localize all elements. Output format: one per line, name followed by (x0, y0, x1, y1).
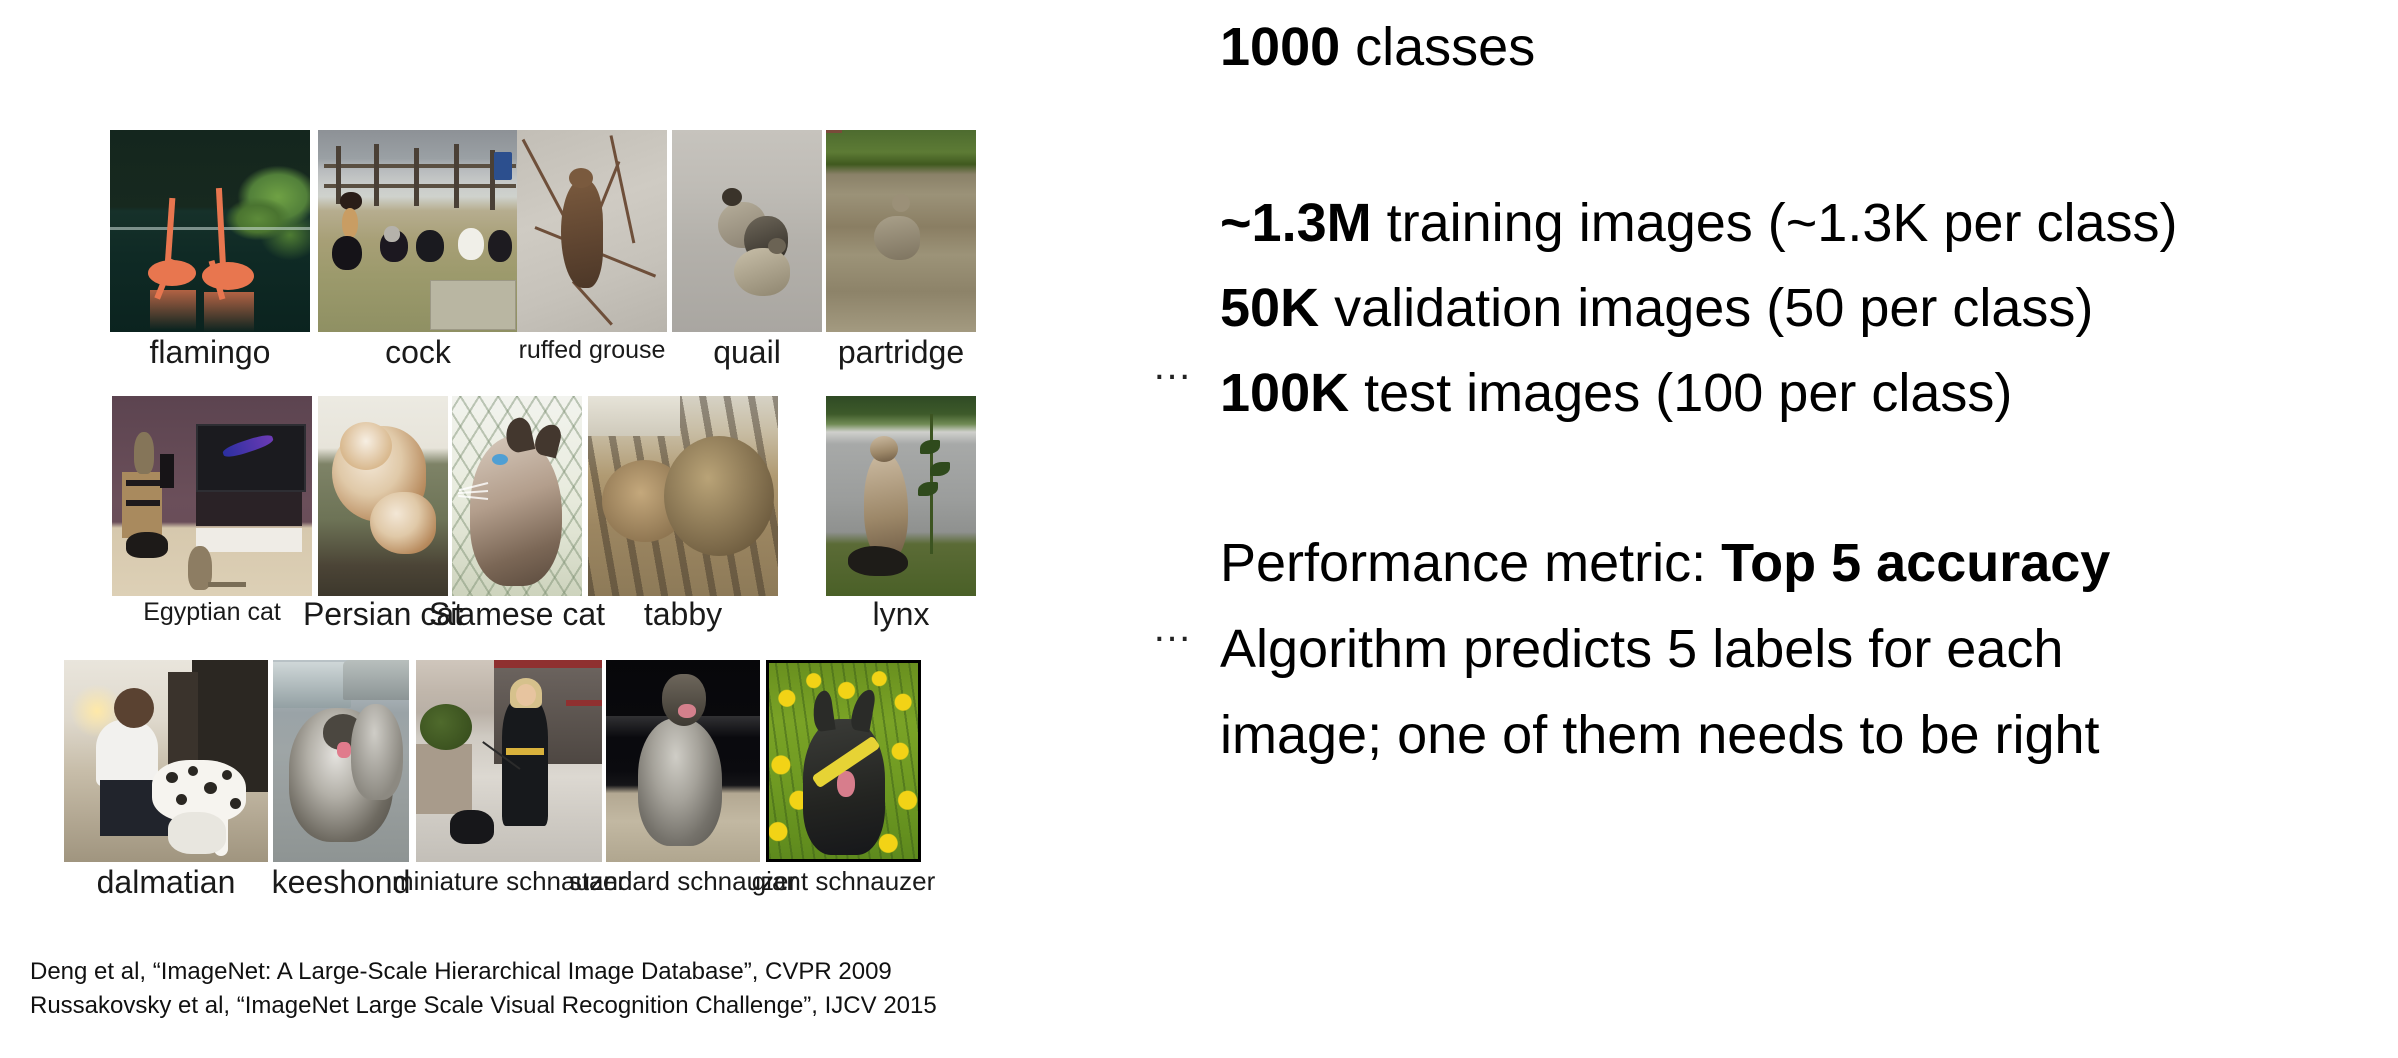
grid-row-cats: Egyptian cat Persian cat Siamese cat (0, 396, 1210, 646)
thumbnail-quail (672, 130, 822, 332)
thumbnail-flamingo (110, 130, 310, 332)
grid-label-cock: cock (385, 336, 451, 368)
grid-label-lynx: lynx (873, 598, 930, 630)
training-count: ~1.3M (1220, 193, 1372, 253)
thumbnail-siamese-cat (452, 396, 582, 596)
thumbnail-lynx (826, 396, 976, 596)
classes-suffix: classes (1340, 17, 1535, 77)
grid-row-birds: flamingo co (0, 130, 1210, 390)
training-suffix: training images (~1.3K per class) (1372, 193, 2178, 253)
thumbnail-giant-schnauzer (766, 660, 921, 862)
test-images-line: 100K test images (100 per class) (1220, 366, 2012, 420)
citation-russakovsky-2015: Russakovsky et al, “ImageNet Large Scale… (30, 989, 1230, 1023)
grid-label-ruffed-grouse: ruffed grouse (519, 338, 666, 363)
test-count: 100K (1220, 363, 1349, 423)
explanation-line-1: Algorithm predicts 5 labels for each (1220, 622, 2063, 676)
classes-line: 1000 classes (1220, 20, 1535, 74)
thumbnail-tabby (588, 396, 778, 596)
metric-prefix: Performance metric: (1220, 533, 1721, 593)
metric-value: Top 5 accuracy (1721, 533, 2110, 593)
grid-label-siamese-cat: Siamese cat (429, 598, 605, 630)
grid-label-giant-schnauzer: giant schnauzer (752, 868, 936, 894)
performance-metric-line: Performance metric: Top 5 accuracy (1220, 536, 2110, 590)
row-cats-ellipsis: … (1152, 608, 1196, 648)
grid-label-keeshond: keeshond (272, 866, 411, 898)
grid-label-tabby: tabby (644, 598, 722, 630)
thumbnail-cock (318, 130, 518, 332)
grid-label-dalmatian: dalmatian (97, 866, 236, 898)
grid-row-dogs: dalmatian keeshond (0, 660, 1210, 920)
thumbnail-ruffed-grouse (517, 130, 667, 332)
thumbnail-miniature-schnauzer (416, 660, 602, 862)
thumbnail-keeshond (273, 660, 409, 862)
thumbnail-egyptian-cat (112, 396, 312, 596)
thumbnail-persian-cat (318, 396, 448, 596)
row-birds-ellipsis: … (1152, 346, 1196, 386)
grid-label-egyptian-cat: Egyptian cat (143, 600, 281, 625)
classes-count: 1000 (1220, 17, 1340, 77)
grid-label-quail: quail (713, 336, 781, 368)
grid-label-flamingo: flamingo (150, 336, 271, 368)
imagenet-sample-grid: flamingo co (0, 0, 1210, 960)
dataset-description-panel: 1000 classes ~1.3M training images (~1.3… (1220, 0, 2390, 900)
thumbnail-dalmatian (64, 660, 268, 862)
validation-suffix: validation images (50 per class) (1319, 278, 2093, 338)
citation-deng-2009: Deng et al, “ImageNet: A Large-Scale Hie… (30, 955, 1230, 989)
test-suffix: test images (100 per class) (1349, 363, 2012, 423)
explanation-line-2: image; one of them needs to be right (1220, 708, 2100, 762)
thumbnail-standard-schnauzer (606, 660, 760, 862)
grid-label-partridge: partridge (838, 336, 964, 368)
citation-block: Deng et al, “ImageNet: A Large-Scale Hie… (30, 955, 1230, 1023)
validation-images-line: 50K validation images (50 per class) (1220, 281, 2093, 335)
training-images-line: ~1.3M training images (~1.3K per class) (1220, 196, 2177, 250)
thumbnail-partridge (826, 130, 976, 332)
validation-count: 50K (1220, 278, 1319, 338)
